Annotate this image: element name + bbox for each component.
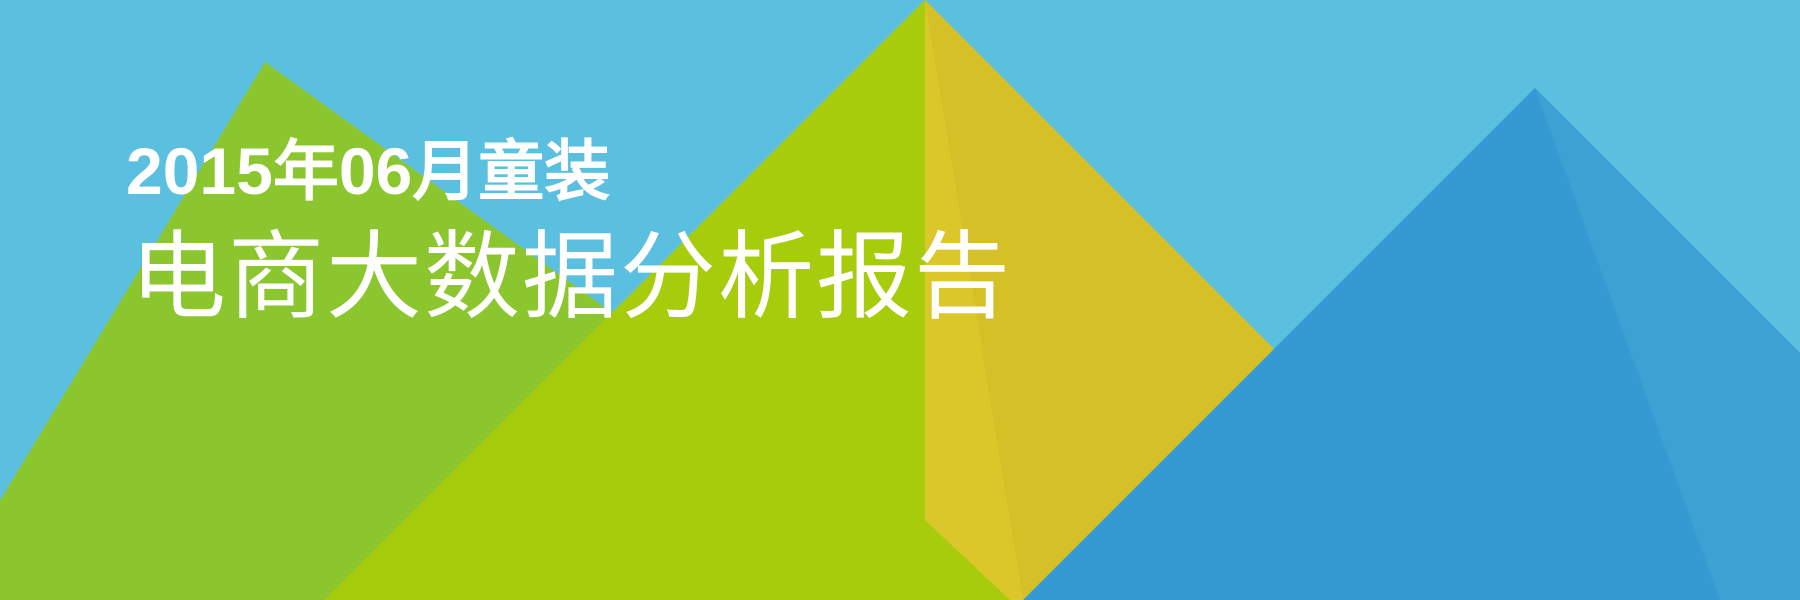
title-block: 2015年06月童装 电商大数据分析报告 [126,138,1012,326]
page-title-line-2: 电商大数据分析报告 [130,230,1012,326]
page-title-line-1: 2015年06月童装 [126,138,1012,216]
slide-canvas: 2015年06月童装 电商大数据分析报告 [0,0,1800,600]
